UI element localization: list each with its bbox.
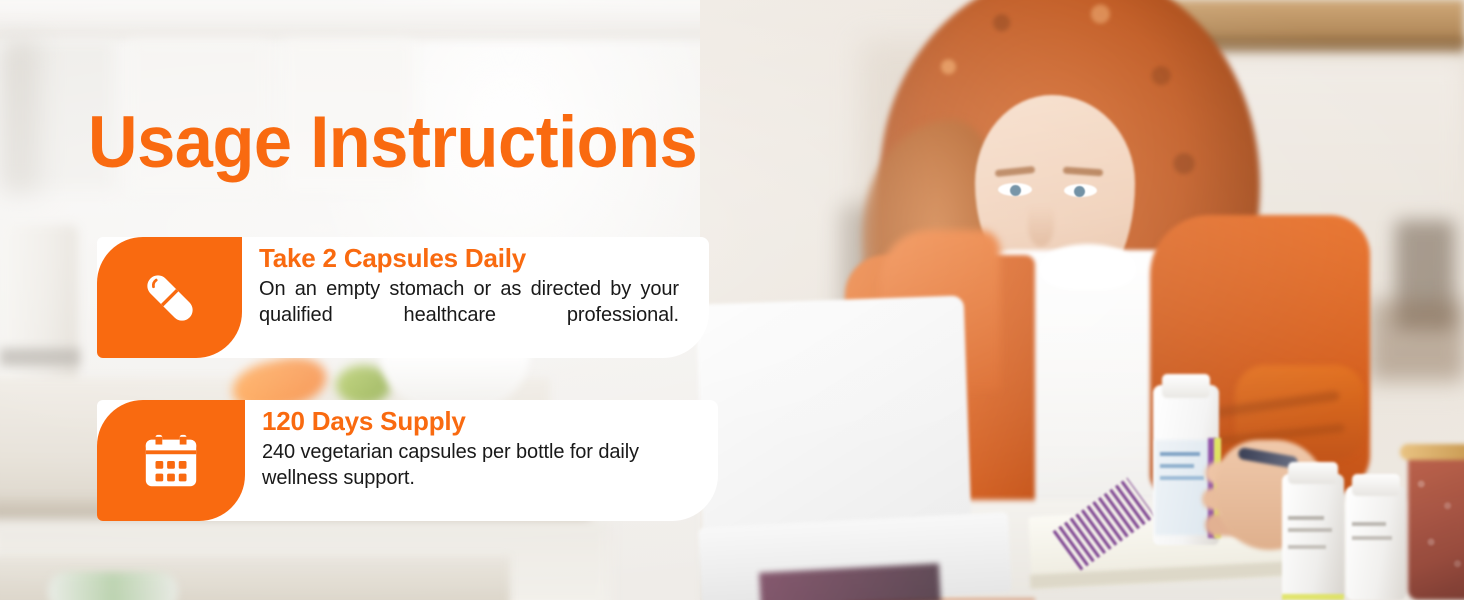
pupil-left: [1010, 185, 1021, 196]
card-text: Take 2 Capsules Daily On an empty stomac…: [242, 237, 709, 358]
supplement-bottle-3-cap: [1352, 474, 1400, 496]
bottle-label-line-1: [1160, 452, 1200, 456]
bottle-2-label-line-2: [1288, 528, 1332, 532]
bottle-label-line-3: [1160, 476, 1204, 480]
card-description: 240 vegetarian capsules per bottle for d…: [262, 439, 696, 519]
pupil-right: [1074, 186, 1085, 197]
instruction-card-supply: 120 Days Supply 240 vegetarian capsules …: [97, 400, 718, 521]
tshirt-collar: [1040, 244, 1136, 290]
nose: [1028, 205, 1054, 247]
calendar-icon: [140, 430, 202, 492]
background-object-right-2: [1370, 300, 1464, 380]
banner-content: Usage Instructions Take 2 Capsules Daily…: [0, 0, 790, 600]
capsule-icon: [136, 264, 204, 332]
instruction-card-dosage: Take 2 Capsules Daily On an empty stomac…: [97, 237, 709, 358]
supplement-bottle-3: [1346, 486, 1406, 600]
bottle-3-label-line-2: [1352, 536, 1392, 540]
supplement-bottle-2: [1282, 474, 1344, 600]
page-title: Usage Instructions: [88, 106, 697, 179]
card-description: On an empty stomach or as directed by yo…: [259, 276, 679, 356]
card-icon-tile: [97, 237, 242, 358]
bottle-2-label-line-1: [1288, 516, 1324, 520]
bottle-2-label-line-3: [1288, 545, 1326, 549]
bottle-label-line-2: [1160, 464, 1194, 468]
card-title: Take 2 Capsules Daily: [259, 244, 679, 273]
glass-jar-texture: [1408, 455, 1464, 600]
card-title: 120 Days Supply: [262, 407, 696, 436]
usage-instructions-banner: Usage Instructions Take 2 Capsules Daily…: [0, 0, 1464, 600]
card-text: 120 Days Supply 240 vegetarian capsules …: [245, 400, 718, 521]
supplement-bottle-cap: [1162, 374, 1210, 398]
bottle-3-label-line-1: [1352, 522, 1386, 526]
card-icon-tile: [97, 400, 245, 521]
bottle-2-band: [1282, 594, 1344, 600]
glass-jar-rim: [1400, 444, 1464, 460]
supplement-bottle-2-cap: [1288, 462, 1338, 484]
